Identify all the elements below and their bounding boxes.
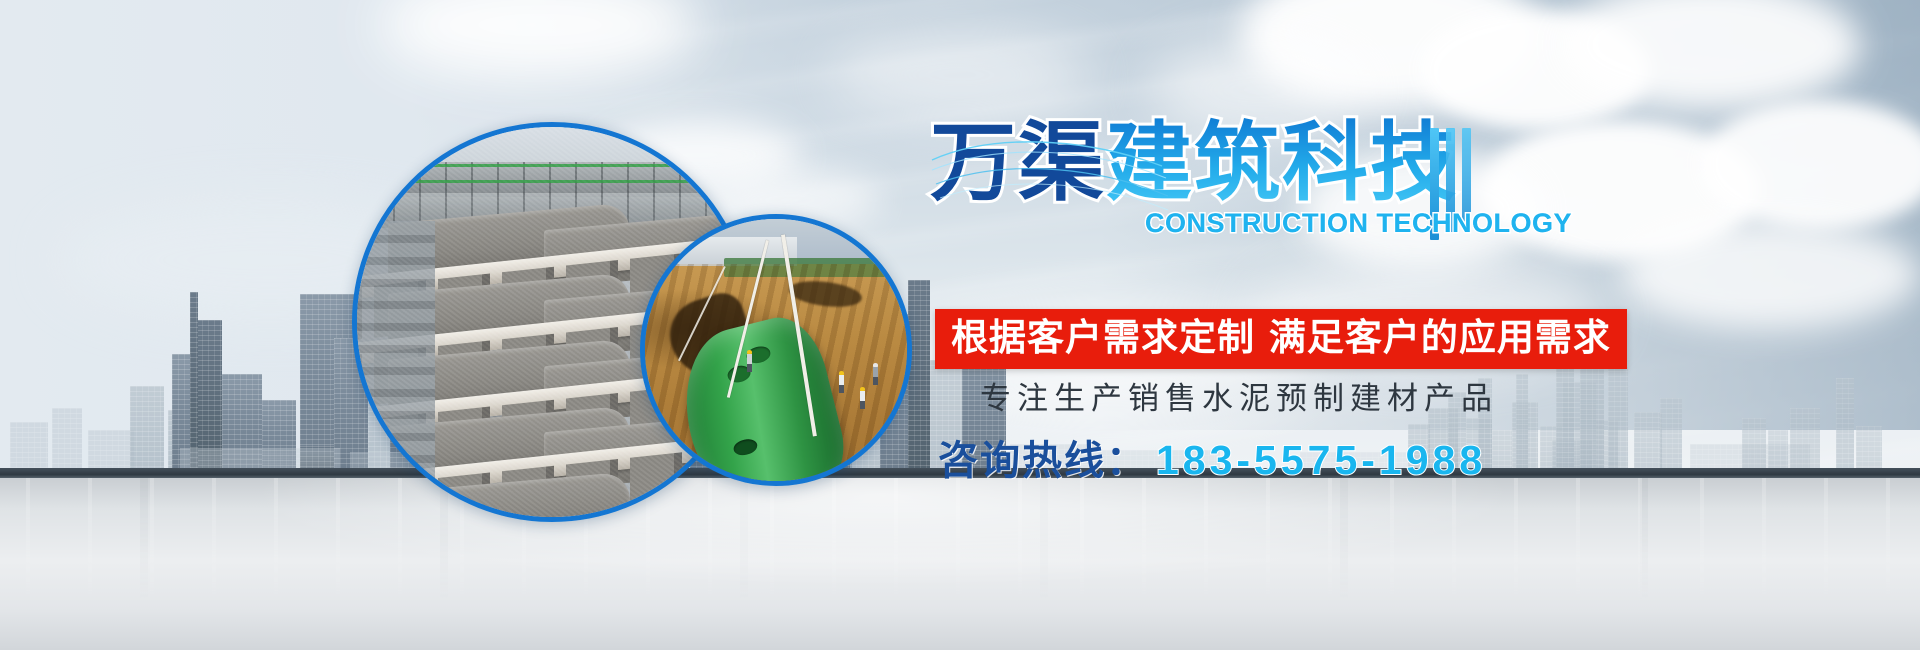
- promotional-banner: 万渠建筑科技 万渠建筑科技 CONSTRUCTION TECHNOLOGY: [0, 0, 1920, 650]
- photo-circle-septic-tank: [640, 214, 912, 486]
- red-slogan-text: 根据客户需求定制 满足客户的应用需求: [951, 316, 1611, 359]
- company-title-row: 万渠建筑科技 万渠建筑科技: [930, 120, 1630, 220]
- hotline-label: 咨询热线：: [938, 439, 1148, 483]
- pavement-sheen: [0, 478, 1920, 650]
- worker-right-b: [873, 363, 878, 385]
- company-title-en: CONSTRUCTION TECHNOLOGY: [1145, 208, 1572, 239]
- company-title-part1: 万渠: [930, 113, 1106, 213]
- worker-on-tank: [747, 350, 752, 372]
- worker-right-c: [860, 387, 865, 409]
- hotline-row[interactable]: 咨询热线： 183-5575-1988: [938, 438, 1486, 483]
- marketing-text-block: 万渠建筑科技 万渠建筑科技 CONSTRUCTION TECHNOLOGY: [930, 120, 1630, 220]
- septic-tank-installation-photo: [645, 219, 907, 481]
- worker-right-a: [839, 371, 844, 393]
- sub-slogan-text: 专注生产销售水泥预制建材产品: [980, 382, 1498, 416]
- company-title-part2: 建筑科技: [1106, 113, 1458, 213]
- company-title: 万渠建筑科技: [930, 120, 1458, 206]
- red-slogan-bar: 根据客户需求定制 满足客户的应用需求: [935, 309, 1627, 369]
- hotline-number[interactable]: 183-5575-1988: [1156, 438, 1486, 482]
